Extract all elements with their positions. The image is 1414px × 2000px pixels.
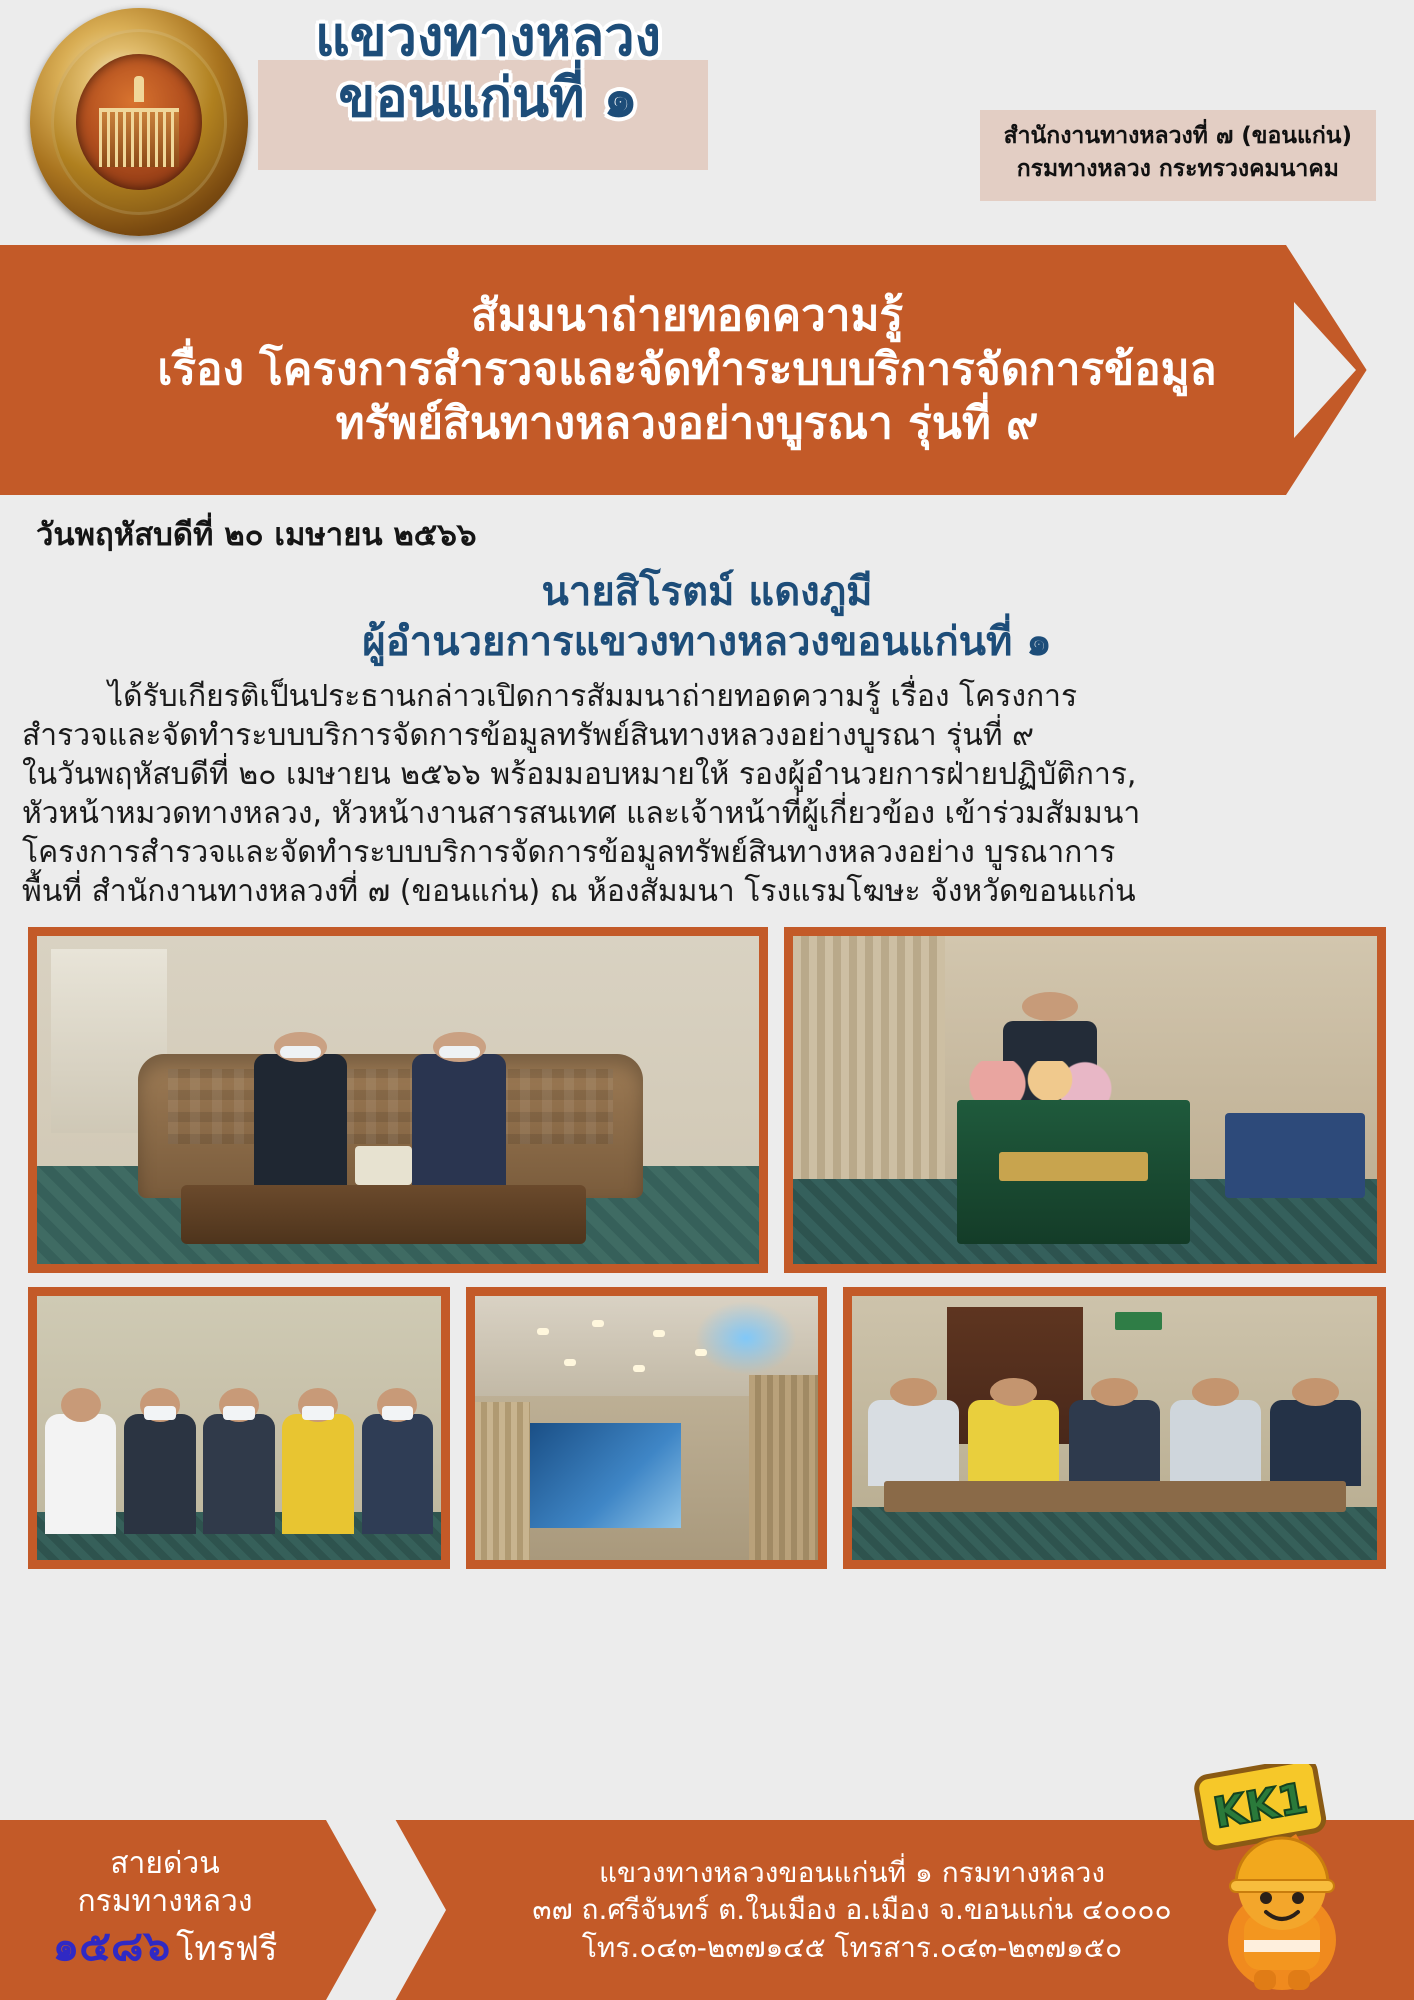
hotline-block: สายด่วน กรมทางหลวง ๑๕๘๖ โทรฟรี (0, 1820, 330, 2000)
address-line-3: โทร.๐๔๓-๒๓๗๑๔๕ โทรสาร.๐๔๓-๒๓๗๑๕๐ (582, 1929, 1122, 1966)
banner-line-3: ทรัพย์สินทางหลวงอย่างบูรณา รุ่นที่ ๙ (107, 397, 1267, 451)
body-line-4: หัวหน้าหมวดทางหลวง, หัวหน้างานสารสนเทศ แ… (22, 794, 1392, 833)
photo-seated-audience (843, 1287, 1386, 1569)
body-line-1: ได้รับเกียรติเป็นประธานกล่าวเปิดการสัมมน… (108, 679, 1077, 714)
banner-arrow-icon (1294, 302, 1356, 438)
address-line-2: ๓๗ ถ.ศรีจันทร์ ต.ในเมือง อ.เมือง จ.ขอนแก… (532, 1891, 1171, 1928)
photo-projector-screen (466, 1287, 827, 1569)
event-date-row: วันพฤหัสบดีที่ ๒๐ เมษายน ๒๕๖๖ (0, 495, 1414, 561)
brand-line-1: แขวงทางหลวง (228, 6, 748, 69)
photo-podium-speaker (784, 927, 1386, 1273)
speaker-block: นายสิโรตม์ แดงภูมี ผู้อำนวยการแขวงทางหลว… (0, 561, 1414, 667)
hotline-label-2: กรมทางหลวง (78, 1883, 253, 1921)
office-line-2: กรมทางหลวง กระทรวงคมนาคม (1004, 153, 1352, 186)
address-line-1: แขวงทางหลวงขอนแก่นที่ ๑ กรมทางหลวง (599, 1854, 1105, 1891)
body-paragraph: ได้รับเกียรติเป็นประธานกล่าวเปิดการสัมมน… (22, 677, 1392, 911)
body-line-2: สำรวจและจัดทำระบบบริการจัดการข้อมูลทรัพย… (22, 716, 1392, 755)
department-of-highways-seal-icon (30, 8, 248, 236)
brand-line-2: ขอนแก่นที่ ๑ (228, 67, 748, 130)
poster-root: แขวงทางหลวง ขอนแก่นที่ ๑ สำนักงานทางหลวง… (0, 0, 1414, 2000)
photo-gallery (28, 927, 1386, 1569)
office-name-plate: สำนักงานทางหลวงที่ ๗ (ขอนแก่น) กรมทางหลว… (980, 110, 1376, 201)
photo-sofa-discussion (28, 927, 768, 1273)
body-line-5: โครงการสำรวจและจัดทำระบบบริการจัดการข้อม… (22, 833, 1392, 872)
hotline-number: ๑๕๘๖ (53, 1923, 171, 1969)
event-date: วันพฤหัสบดีที่ ๒๐ เมษายน ๒๕๖๖ (36, 517, 477, 553)
speaker-position: ผู้อำนวยการแขวงทางหลวงขอนแก่นที่ ๑ (0, 617, 1414, 667)
brand-title: แขวงทางหลวง ขอนแก่นที่ ๑ (228, 6, 748, 129)
body-line-6: พื้นที่ สำนักงานทางหลวงที่ ๗ (ขอนแก่น) ณ… (22, 872, 1392, 911)
address-block: แขวงทางหลวงขอนแก่นที่ ๑ กรมทางหลวง ๓๗ ถ.… (440, 1820, 1264, 2000)
event-title-banner: สัมมนาถ่ายทอดความรู้ เรื่อง โครงการสำรวจ… (0, 245, 1414, 495)
footer-arrow-icon (326, 1820, 446, 2000)
poster-header: แขวงทางหลวง ขอนแก่นที่ ๑ สำนักงานทางหลวง… (0, 0, 1414, 245)
banner-line-2: เรื่อง โครงการสำรวจและจัดทำระบบบริการจัด… (107, 343, 1267, 397)
banner-line-1: สัมมนาถ่ายทอดความรู้ (107, 289, 1267, 343)
hotline-label-1: สายด่วน (110, 1845, 220, 1883)
photo-audience-microphone (28, 1287, 450, 1569)
body-line-3: ในวันพฤหัสบดีที่ ๒๐ เมษายน ๒๕๖๖ พร้อมมอบ… (22, 755, 1392, 794)
kk1-mascot: KK1 (1178, 1764, 1386, 1994)
speaker-name: นายสิโรตม์ แดงภูมี (0, 567, 1414, 617)
office-line-1: สำนักงานทางหลวงที่ ๗ (ขอนแก่น) (1004, 120, 1352, 153)
hotline-free-label: โทรฟรี (176, 1921, 277, 1975)
